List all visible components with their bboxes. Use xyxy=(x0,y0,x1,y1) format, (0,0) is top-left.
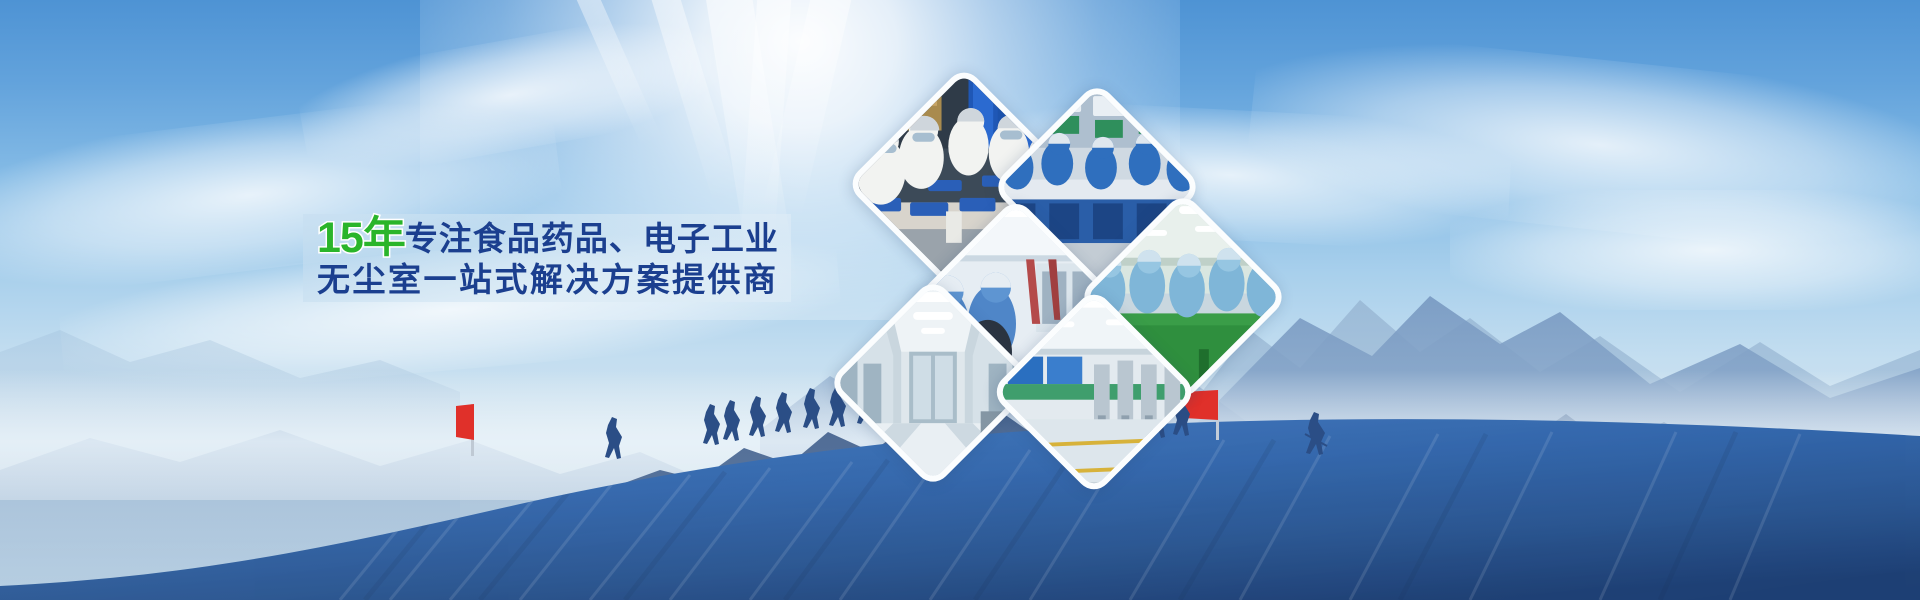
years-badge: 15年 xyxy=(317,214,405,262)
headline-line-1-text: 专注食品药品、电子工业 xyxy=(405,220,779,257)
headline-panel: 15年专注食品药品、电子工业 无尘室一站式解决方案提供商 xyxy=(303,214,791,302)
photo-collage xyxy=(0,0,1920,600)
headline-line-2: 无尘室一站式解决方案提供商 xyxy=(317,263,791,297)
hero-banner: 15年专注食品药品、电子工业 无尘室一站式解决方案提供商 xyxy=(0,0,1920,600)
headline-line-1: 15年专注食品药品、电子工业 xyxy=(317,217,791,261)
